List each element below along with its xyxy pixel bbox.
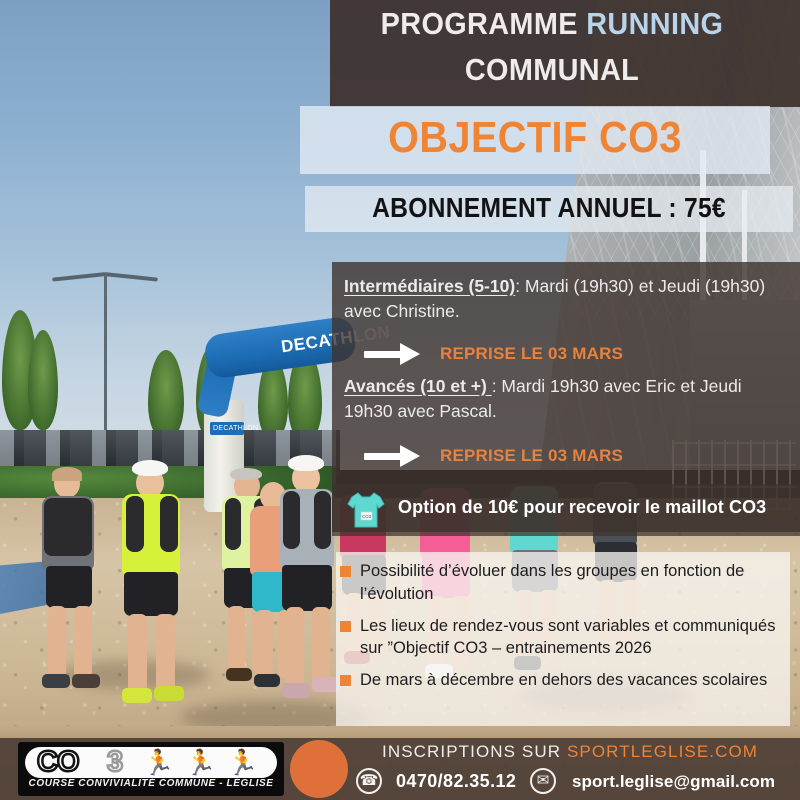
group-advanced: Avancés (10 et +) : Mardi 19h30 avec Eri…	[344, 374, 788, 424]
website-link[interactable]: SPORTLEGLISE.COM	[567, 742, 758, 761]
runner-shoe	[154, 686, 184, 701]
list-item: Les lieux de rendez-vous sont variables …	[336, 615, 790, 661]
arch-leg-badge: DECATHLON	[210, 422, 244, 435]
logo-plate: CO 3 🏃 🏃 🏃	[25, 747, 277, 778]
header-running-text: RUNNING	[586, 6, 723, 41]
subscription-band: ABONNEMENT ANNUEL : 75€	[305, 186, 793, 232]
envelope-icon: ✉	[530, 768, 556, 794]
email-address[interactable]: sport.leglise@gmail.com	[572, 772, 775, 792]
runner-shorts	[124, 572, 178, 616]
group-intermediate: Intermédiaires (5-10): Mardi (19h30) et …	[344, 274, 776, 324]
notes-list: Possibilité d’évoluer dans les groupes e…	[336, 560, 790, 701]
runner-leg	[156, 614, 175, 692]
runner-headband	[230, 468, 262, 480]
header-programme-text: PROGRAMME	[381, 6, 587, 41]
runner-shoe	[72, 674, 100, 688]
runner-shorts	[46, 566, 92, 608]
logo-co-text: CO	[37, 746, 79, 779]
arrow-right-icon	[364, 342, 426, 366]
runner-vest	[283, 491, 300, 549]
jersey-option-text: Option de 10€ pour recevoir le maillot C…	[398, 497, 766, 518]
runner-vest	[225, 498, 241, 550]
runner-shoe	[122, 688, 152, 703]
header-line-2: COMMUNAL	[346, 52, 759, 88]
objective-band: OBJECTIF CO3	[300, 106, 770, 174]
arch-badge-text: DECATHLON	[213, 425, 258, 432]
runner-cap	[132, 460, 168, 476]
tshirt-icon: CO3	[344, 488, 388, 532]
runner-vest	[314, 491, 331, 549]
runner-shorts	[282, 565, 332, 611]
runner-leg	[286, 607, 304, 687]
jersey-option-row: CO3 Option de 10€ pour recevoir le maill…	[332, 484, 800, 536]
inscriptions-label: INSCRIPTIONS SUR	[382, 742, 567, 761]
header-line-1: PROGRAMME RUNNING	[346, 8, 759, 40]
inscriptions-line: INSCRIPTIONS SUR SPORTLEGLISE.COM	[382, 742, 758, 762]
poster: DECATHLON DECATHLON	[0, 0, 800, 800]
group-advanced-label: Avancés (10 et +)	[344, 376, 492, 396]
running-man-icon	[290, 740, 348, 798]
runner-leg	[312, 607, 330, 687]
subscription-price: ABONNEMENT ANNUEL : 75€	[334, 192, 763, 224]
runner-shoe	[282, 683, 310, 698]
runner-leg	[48, 606, 66, 678]
running-man-icon: 🏃	[143, 751, 174, 775]
list-item: De mars à décembre en dehors des vacance…	[336, 669, 790, 692]
list-item: Possibilité d’évoluer dans les groupes e…	[336, 560, 790, 606]
phone-number[interactable]: 0470/82.35.12	[396, 771, 516, 792]
notes-panel: Possibilité d’évoluer dans les groupes e…	[336, 552, 790, 734]
header-banner: PROGRAMME RUNNING COMMUNAL	[330, 0, 800, 107]
running-man-icon: 🏃	[227, 751, 258, 775]
runner-figure	[110, 460, 196, 720]
runner-vest	[160, 496, 178, 552]
runner-leg	[74, 606, 92, 678]
runner-vest	[126, 496, 144, 552]
runner-vest	[44, 498, 92, 556]
runner-leg	[128, 614, 147, 692]
co3-logo: CO 3 🏃 🏃 🏃 COURSE CONVIVIALITÉ COMMUNE -…	[18, 742, 284, 796]
logo-three-text: 3	[107, 746, 123, 779]
logo-runner-icons: 🏃 🏃 🏃	[143, 751, 271, 775]
runner-cap	[288, 455, 324, 471]
runner-figure	[30, 470, 110, 710]
phone-icon: ☎	[356, 768, 382, 794]
group-intermediate-label: Intermédiaires (5-10)	[344, 276, 515, 296]
runner-shoe	[42, 674, 70, 688]
arrow-right-icon	[364, 444, 426, 468]
objective-title: OBJECTIF CO3	[324, 113, 747, 163]
logo-tagline: COURSE CONVIVIALITÉ COMMUNE - LÉGLISE	[18, 778, 284, 789]
group-intermediate-restart: REPRISE LE 03 MARS	[440, 344, 623, 364]
runner-hair	[52, 467, 82, 481]
running-man-icon: 🏃	[185, 751, 216, 775]
group-advanced-restart: REPRISE LE 03 MARS	[440, 446, 623, 466]
svg-text:CO3: CO3	[362, 514, 372, 519]
